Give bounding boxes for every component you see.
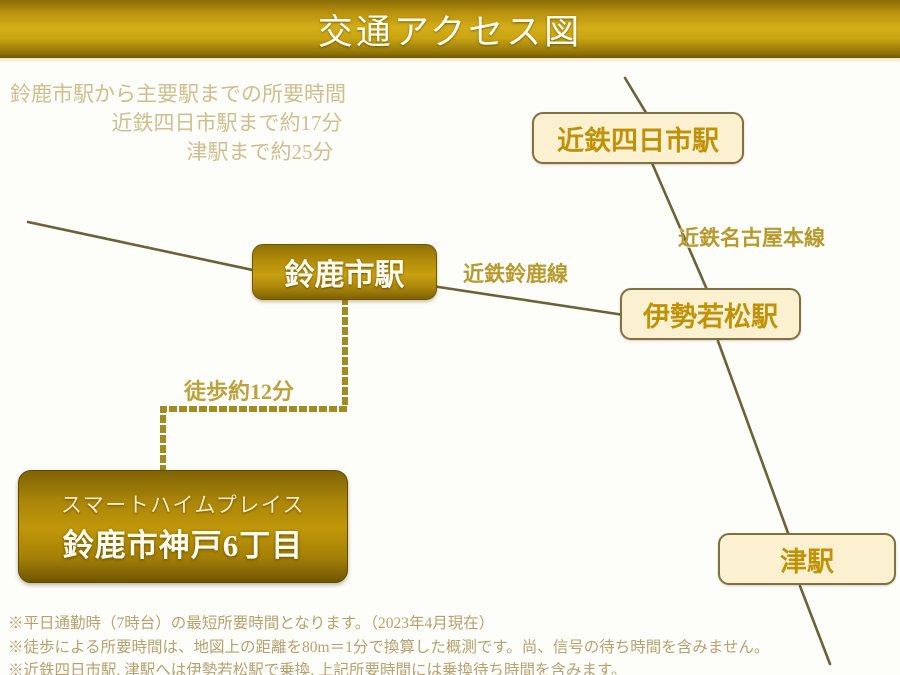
walking-time-label: 徒歩約12分 (184, 374, 294, 406)
footnote-3: ※近鉄四日市駅, 津駅へは伊勢若松駅で乗換. 上記所要時間には乗換待ち時間を含み… (8, 659, 892, 675)
rail-line-label-nagoya-main: 近鉄名古屋本線 (678, 222, 825, 252)
station-yokkaichi-label: 近鉄四日市駅 (557, 119, 719, 158)
banner-underline (0, 58, 900, 62)
title-banner: 交通アクセス図 (0, 0, 900, 58)
rail-line-nagoya-south (718, 341, 788, 533)
station-yokkaichi[interactable]: 近鉄四日市駅 (532, 112, 744, 164)
station-suzuka-shi[interactable]: 鈴鹿市駅 (252, 244, 437, 300)
footnote-2: ※徒歩による所要時間は、地図上の距離を80m＝1分で換算した概測です。尚、信号の… (8, 636, 892, 660)
rail-line-suzuka-west (28, 222, 262, 272)
travel-time-tsu: 津駅まで約25分 (8, 138, 428, 167)
property-brand-label: スマートハイムプレイス (61, 489, 305, 519)
station-ise-wakamatsu[interactable]: 伊勢若松駅 (620, 288, 801, 340)
station-tsu-label: 津駅 (780, 540, 834, 579)
station-ise-wakamatsu-label: 伊勢若松駅 (643, 295, 778, 334)
station-tsu[interactable]: 津駅 (718, 533, 896, 585)
station-suzuka-shi-label: 鈴鹿市駅 (285, 250, 405, 294)
footnotes: ※平日通勤時（7時台）の最短所要時間となります。（2023年4月現在） ※徒歩に… (8, 612, 892, 675)
property-location-box[interactable]: スマートハイムプレイス 鈴鹿市神戸6丁目 (18, 470, 348, 583)
travel-time-heading: 鈴鹿市駅から主要駅までの所要時間 (8, 80, 428, 109)
travel-time-yokkaichi: 近鉄四日市駅まで約17分 (8, 109, 428, 138)
property-address-label: 鈴鹿市神戸6丁目 (63, 520, 304, 565)
rail-line-nagoya-north (625, 78, 648, 116)
page-title: 交通アクセス図 (318, 4, 582, 55)
transit-access-map: 交通アクセス図 鈴鹿市駅から主要駅までの所要時間 近鉄四日市駅まで約17分 津駅… (0, 0, 900, 675)
rail-line-label-suzuka: 近鉄鈴鹿線 (463, 258, 568, 288)
travel-time-summary: 鈴鹿市駅から主要駅までの所要時間 近鉄四日市駅まで約17分 津駅まで約25分 (8, 80, 428, 167)
footnote-1: ※平日通勤時（7時台）の最短所要時間となります。（2023年4月現在） (8, 612, 892, 636)
rail-line-suzuka-east (432, 286, 624, 315)
